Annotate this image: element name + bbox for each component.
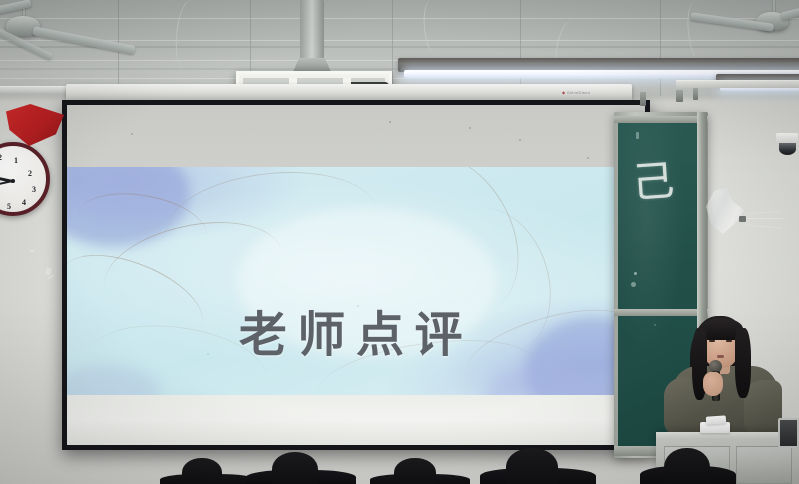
ceiling-conduit [693, 88, 698, 100]
lectern-papers [706, 415, 727, 424]
clock-numeral: 12 [0, 154, 2, 162]
student [506, 448, 558, 484]
tape-anchor [739, 216, 746, 222]
projection-screen-blank-area [67, 395, 645, 445]
clock-numeral: 4 [22, 199, 26, 207]
student [182, 458, 222, 484]
clock-numeral: 5 [7, 203, 11, 211]
ceiling-conduit [640, 92, 646, 106]
brand-name: ShineDisen [567, 90, 590, 95]
ceiling-conduit [676, 90, 683, 102]
chalkboard-divider [614, 116, 708, 123]
projection-screen: 老师点评 [62, 100, 650, 450]
slide-title: 老师点评 [67, 295, 645, 365]
student [394, 458, 436, 484]
clock-numeral: 1 [14, 157, 18, 165]
student [664, 448, 710, 484]
clock-numeral: 3 [32, 186, 36, 194]
clock-numeral: 2 [28, 170, 32, 178]
classroom-photo: ◆ ShineDisen [0, 0, 799, 484]
presenter-hand [703, 372, 723, 396]
student [272, 452, 318, 484]
projection-screen-surface: 老师点评 [67, 105, 645, 445]
brand-mark-icon: ◆ [562, 90, 565, 95]
projected-slide: 老师点评 [67, 167, 645, 395]
chalkboard-divider [614, 309, 708, 316]
wall-trim-rail-right [676, 80, 799, 88]
chalkboard-chalk-mark: 己 [630, 147, 676, 211]
screen-brand-logo: ◆ ShineDisen [562, 90, 590, 95]
projector-mount-column [300, 0, 324, 66]
lectern-monitor [778, 418, 799, 448]
